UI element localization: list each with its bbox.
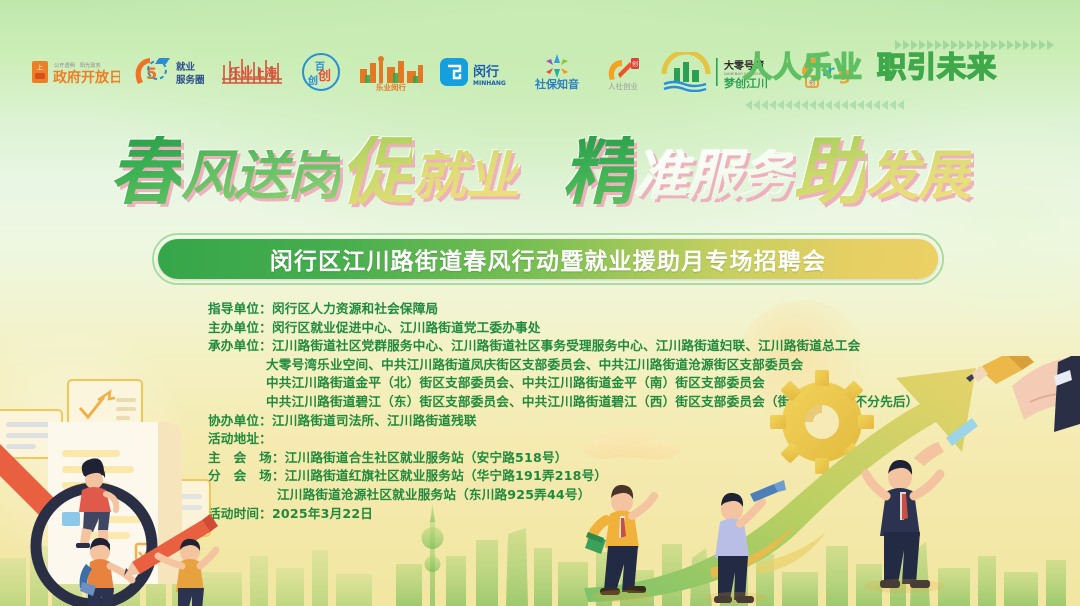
headline-char-2: 风送岗 <box>181 150 340 208</box>
info-line-organizer: 主办单位：闵行区就业促进中心、江川路街道党工委办事处 <box>208 319 908 338</box>
subtitle-bar: 闵行区江川路街道春风行动暨就业援助月专场招聘会 <box>158 239 938 279</box>
headline-char-5: 精 <box>562 136 634 209</box>
info-line-host-2: 大零号湾乐业空间、中共江川路街道凤庆街区支部委员会、中共江川路街道沧源街区支部委… <box>208 356 908 375</box>
headline-char-6: 准服务 <box>634 150 793 208</box>
svg-text:乐业上海: 乐业上海 <box>229 65 277 80</box>
svg-text:创: 创 <box>307 74 318 87</box>
headline-part-2: 精 准服务 助 发展 <box>562 136 971 209</box>
svg-text:闵行: 闵行 <box>473 64 499 80</box>
info-line-sub-venue-2: 江川路街道沧源社区就业服务站（东川路925弄44号） <box>208 486 908 505</box>
info-line-address-label: 活动地址： <box>208 430 908 449</box>
info-line-host-4: 中共江川路街道碧江（东）街区支部委员会、中共江川路街道碧江（西）街区支部委员会（… <box>208 393 908 412</box>
arrows-left-decoration <box>745 100 904 110</box>
info-line-coorganizer: 协办单位：江川路街道司法所、江川路街道残联 <box>208 412 908 431</box>
info-line-sub-venue-1: 分 会 场：江川路街道红旗社区就业服务站（华宁路191弄218号） <box>208 467 908 486</box>
info-line-host-1: 承办单位：江川路街道社区党群服务中心、江川路街道社区事务受理服务中心、江川路街道… <box>208 337 908 356</box>
arrows-right-decoration <box>895 40 1054 50</box>
top-slogan: 人人乐业 职引未来 <box>743 40 1058 104</box>
event-info-block: 指导单位：闵行区人力资源和社会保障局 主办单位：闵行区就业促进中心、江川路街道党… <box>208 300 908 523</box>
svg-text:创: 创 <box>317 68 331 84</box>
svg-text:人社创业: 人社创业 <box>608 81 638 91</box>
headline-part-1: 春 风送岗 促 就业 <box>109 136 518 209</box>
rense-chuangye-logo: 创 人社创业 <box>598 52 648 92</box>
info-line-datetime: 活动时间：2025年3月22日 <box>208 505 908 524</box>
svg-text:MINHANG: MINHANG <box>473 80 506 87</box>
slogan-right-text: 职引未来 <box>877 54 997 83</box>
headline-char-3: 促 <box>340 136 412 209</box>
svg-text:公开透明 阳光政务: 公开透明 阳光政务 <box>54 61 101 69</box>
shebao-zhiyin-logo: 社保知音 <box>528 52 586 92</box>
info-line-main-venue: 主 会 场：江川路街道合生社区就业服务站（安宁路518号） <box>208 449 908 468</box>
minhang-district-logo: 闵行 MINHANG <box>438 52 516 92</box>
headline-char-7: 助 <box>793 136 865 209</box>
svg-text:创: 创 <box>632 60 638 68</box>
svg-text:乐业闵行: 乐业闵行 <box>376 82 406 91</box>
svg-text:社保知音: 社保知音 <box>534 77 579 91</box>
svg-text:上: 上 <box>37 64 43 72</box>
le-ye-minhang-logo: 乐业闵行 <box>356 52 426 92</box>
info-line-guidance: 指导单位：闵行区人力资源和社会保障局 <box>208 300 908 319</box>
partner-logo-strip: 上 公开透明 阳光政务 政府开放日 5 就业 服务圈 <box>0 46 760 98</box>
headline-char-8: 发展 <box>865 150 971 208</box>
svg-text:服务圈: 服务圈 <box>176 74 205 86</box>
employment-service-circle-logo: 5 就业 服务圈 <box>132 52 208 92</box>
slogan-left-text: 人人乐业 <box>743 54 863 83</box>
le-ye-shanghai-logo: 乐业上海 <box>220 52 286 92</box>
main-headline: 春 风送岗 促 就业 精 准服务 助 发展 <box>0 122 1080 222</box>
headline-char-1: 春 <box>109 136 181 209</box>
subtitle-text: 闵行区江川路街道春风行动暨就业援助月专场招聘会 <box>270 242 827 276</box>
headline-char-4: 就业 <box>412 150 518 208</box>
svg-text:政府开放日: 政府开放日 <box>53 69 120 86</box>
decorative-blob-white <box>0 330 200 560</box>
bai-chuang-logo: 百 创 创 <box>298 52 344 92</box>
government-open-day-logo: 上 公开透明 阳光政务 政府开放日 <box>32 52 120 92</box>
info-line-host-3: 中共江川路街道金平（北）街区支部委员会、中共江川路街道金平（南）街区支部委员会 <box>208 374 908 393</box>
svg-text:就业: 就业 <box>176 61 196 73</box>
recruitment-poster: 上 公开透明 阳光政务 政府开放日 5 就业 服务圈 <box>0 0 1080 606</box>
